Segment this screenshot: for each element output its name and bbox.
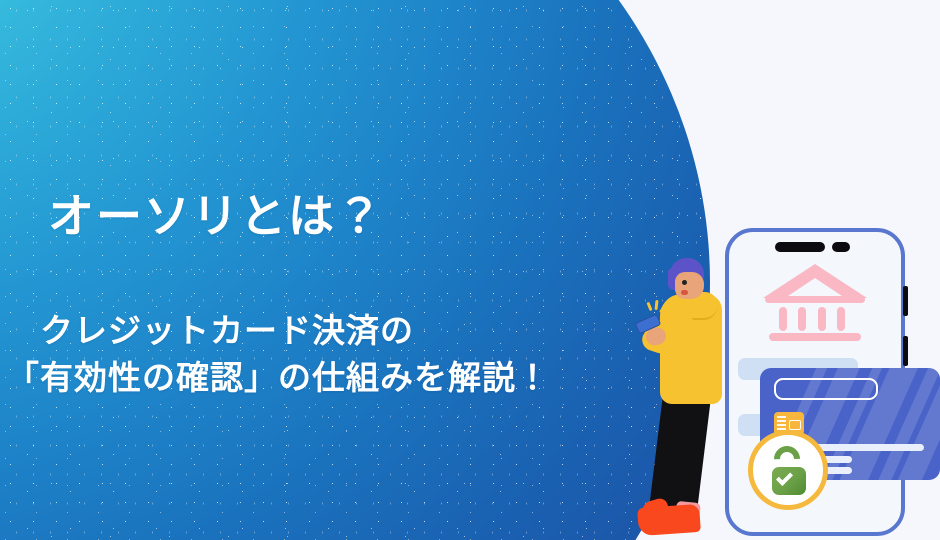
speckle-texture-overlay — [0, 0, 710, 540]
bank-column-icon — [837, 307, 845, 331]
phone-power-button-icon — [903, 336, 908, 366]
phone-speaker-notch-icon — [775, 242, 825, 252]
banner-image: オーソリとは？ クレジットカード決済の 「有効性の確認」の仕組みを解説！ — [0, 0, 940, 540]
chip-contact-line — [777, 424, 786, 426]
phone-volume-button-icon — [903, 286, 908, 316]
person-shoe — [637, 504, 701, 536]
bank-column-icon — [818, 307, 826, 331]
blue-gradient-blob — [0, 0, 710, 540]
chip-contact-line — [777, 420, 786, 422]
chip-contact-line — [777, 416, 786, 418]
bank-column-icon — [798, 307, 806, 331]
notification-spark-icon — [646, 302, 652, 311]
person-legs — [649, 390, 712, 517]
bank-column-icon — [779, 307, 787, 331]
bank-lintel-icon — [765, 296, 865, 303]
bank-building-icon — [763, 264, 867, 340]
bank-base-icon — [769, 333, 861, 341]
chip-center-box — [789, 420, 801, 430]
unlocked-padlock-check-icon — [748, 430, 828, 510]
notification-spark-icon — [654, 300, 658, 310]
person-face — [675, 272, 704, 299]
person-eye — [682, 280, 687, 285]
phone-camera-notch-icon — [832, 242, 850, 252]
person-with-phone-icon — [630, 210, 750, 540]
card-window-outline — [774, 378, 878, 400]
illustration — [630, 210, 940, 540]
person-mouth — [681, 290, 688, 295]
